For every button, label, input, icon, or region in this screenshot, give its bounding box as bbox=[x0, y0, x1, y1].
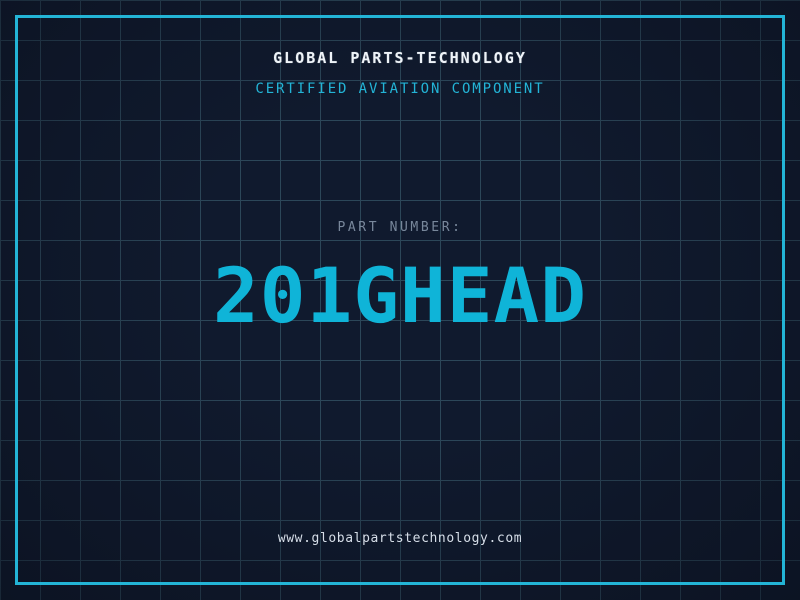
part-number-value: 201GHEAD bbox=[0, 258, 800, 334]
part-number-label: PART NUMBER: bbox=[0, 220, 800, 235]
company-title: GLOBAL PARTS-TECHNOLOGY bbox=[0, 49, 800, 67]
footer-website-url: www.globalpartstechnology.com bbox=[0, 531, 800, 546]
certification-subtitle: CERTIFIED AVIATION COMPONENT bbox=[0, 81, 800, 97]
blueprint-part-card: GLOBAL PARTS-TECHNOLOGY CERTIFIED AVIATI… bbox=[0, 0, 800, 600]
